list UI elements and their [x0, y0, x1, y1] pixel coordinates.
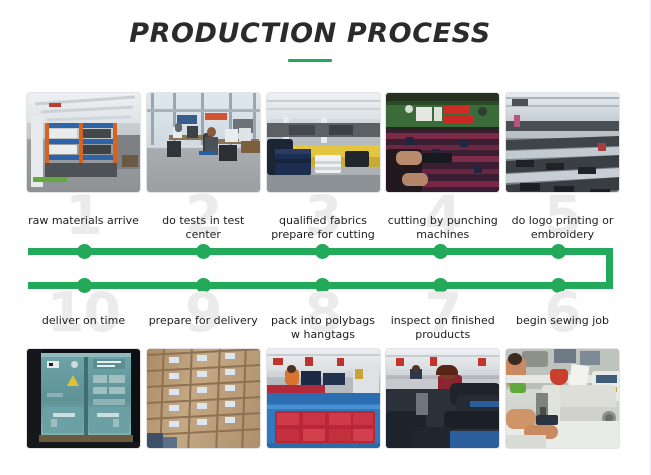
step-2-label: do tests in test center: [146, 202, 261, 242]
step-5-label: do logo printing orembroidery: [505, 202, 620, 242]
step-8-label: pack into polybagsw hangtags: [266, 300, 381, 342]
flow-dot-step-10: [77, 278, 92, 293]
step-1-label: raw materials arrive: [26, 202, 141, 228]
warehouse-racking-photo: [26, 92, 141, 193]
printing-line-photo: [505, 92, 620, 193]
flow-dot-step-6: [551, 278, 566, 293]
flow-labels-row1: 1 raw materials arrive 2 do tests in tes…: [26, 202, 620, 242]
flow-dot-step-5: [551, 244, 566, 259]
step-6-label: begin sewing job: [505, 300, 620, 328]
step-4: 4 cutting by punchingmachines: [385, 202, 500, 242]
flow-dot-step-8: [315, 278, 330, 293]
step-4-label: cutting by punchingmachines: [385, 202, 500, 242]
production-process-infographic: PRODUCTION PROCESS: [0, 0, 651, 475]
step-8: 8 pack into polybagsw hangtags: [266, 300, 381, 342]
step-6: 6 begin sewing job: [505, 300, 620, 342]
final-inspection-photo: [385, 348, 500, 449]
sewing-machine-photo: [505, 348, 620, 449]
photo-row-bottom: [26, 348, 620, 449]
header: PRODUCTION PROCESS: [0, 18, 620, 62]
flow-dot-step-7: [433, 278, 448, 293]
photo-row-top: [26, 92, 620, 193]
shipping-container-photo: [26, 348, 141, 449]
flow-dot-step-1: [77, 244, 92, 259]
step-7-label: inspect on finishedprouducts: [385, 300, 500, 342]
flow-dot-step-2: [196, 244, 211, 259]
step-9-label: prepare for delivery: [146, 300, 261, 328]
polybag-packing-photo: [266, 348, 381, 449]
page-title: PRODUCTION PROCESS: [0, 18, 620, 50]
flow-dot-step-9: [196, 278, 211, 293]
step-10-label: deliver on time: [26, 300, 141, 328]
stacked-cartons-photo: [146, 348, 261, 449]
folded-fabrics-photo: [266, 92, 381, 193]
step-3: 3 qualified fabricsprepare for cutting: [266, 202, 381, 242]
flow-labels-row2: 10 deliver on time 9 prepare for deliver…: [26, 300, 620, 342]
title-underline-accent: [288, 59, 332, 62]
process-flow: 1 raw materials arrive 2 do tests in tes…: [0, 196, 620, 342]
step-1: 1 raw materials arrive: [26, 202, 141, 242]
punching-machine-photo: [385, 92, 500, 193]
step-5: 5 do logo printing orembroidery: [505, 202, 620, 242]
test-center-photo: [146, 92, 261, 193]
step-9: 9 prepare for delivery: [146, 300, 261, 342]
step-2: 2 do tests in test center: [146, 202, 261, 242]
flow-dot-step-3: [315, 244, 330, 259]
step-7: 7 inspect on finishedprouducts: [385, 300, 500, 342]
step-10: 10 deliver on time: [26, 300, 141, 342]
step-3-label: qualified fabricsprepare for cutting: [266, 202, 381, 242]
flow-connector-elbow: [585, 248, 613, 289]
flow-dot-step-4: [433, 244, 448, 259]
